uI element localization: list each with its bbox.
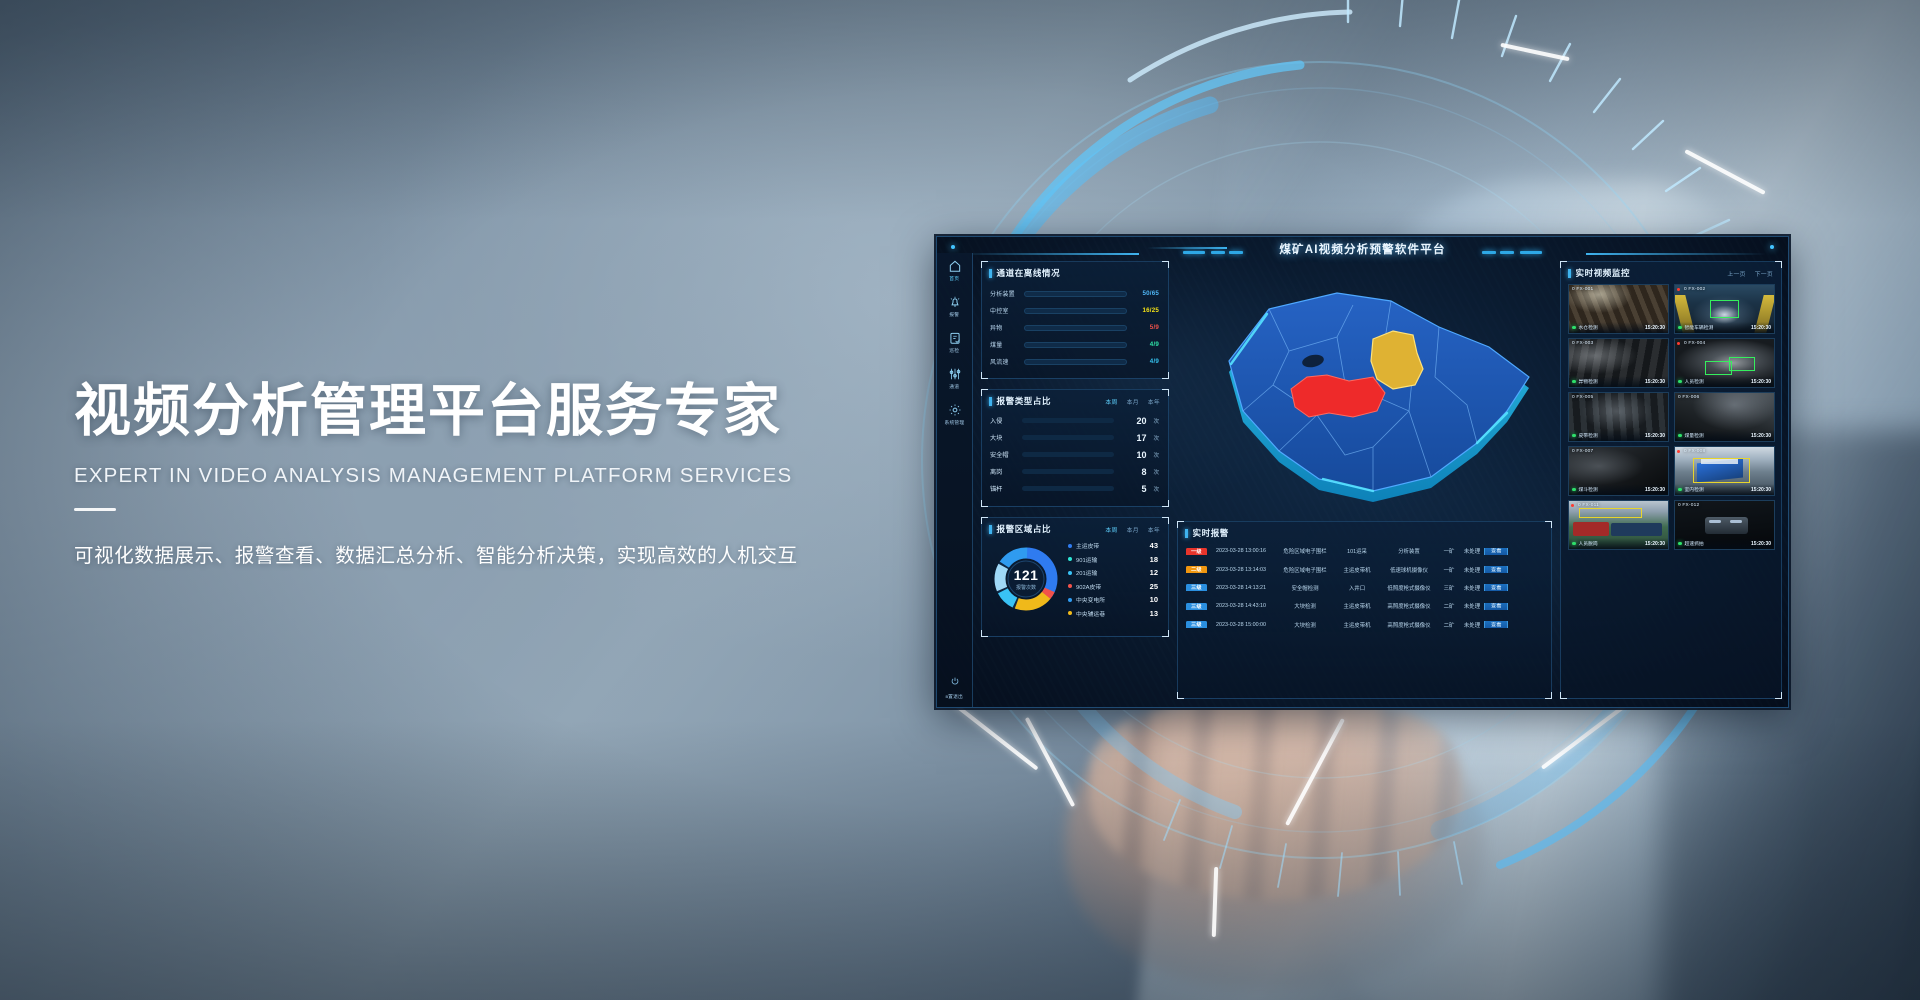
video-footer: 人员脱岗 15:20:30 <box>1569 538 1668 549</box>
legend-value: 12 <box>1150 568 1158 577</box>
video-footer: 水仓检测 15:20:30 <box>1569 322 1668 333</box>
alarm-mine: 二矿 <box>1438 602 1460 610</box>
camera-id: 0 FX-001 <box>1572 287 1593 292</box>
alarm-type-row: 安全帽 10 次 <box>990 446 1159 463</box>
channel-value: 5/9 <box>1133 324 1159 331</box>
camera-id: 0 FX-012 <box>1678 503 1699 508</box>
sidebar-item-home[interactable]: 首页 <box>938 259 972 282</box>
alarm-device: 低照度枪式摄像仪 <box>1380 584 1438 592</box>
legend-label: 201运输 <box>1076 568 1097 577</box>
online-status-led <box>1678 380 1682 384</box>
hero-banner: 视频分析管理平台服务专家 EXPERT IN VIDEO ANALYSIS MA… <box>0 0 1920 1000</box>
dashboard-title: 煤矿AI视频分析预警软件平台 <box>1279 241 1445 257</box>
header-accent-bar <box>1185 529 1188 538</box>
panel-header: 实时报警 <box>1178 522 1551 542</box>
header-dot <box>951 245 955 249</box>
camera-timestamp: 15:20:30 <box>1751 433 1771 439</box>
panel-corner <box>1162 372 1169 379</box>
legend-color-dot <box>1068 598 1072 602</box>
alarm-type-name: 入侵 <box>990 416 1016 425</box>
alarm-type-value: 17 <box>1120 433 1146 443</box>
panel-corner <box>1545 692 1552 699</box>
alarm-device: 分析装置 <box>1380 547 1438 555</box>
alarm-type-value: 20 <box>1120 416 1146 426</box>
alarm-type-progress-track <box>1022 435 1114 440</box>
legend-label: 901运输 <box>1076 555 1097 564</box>
legend-color-dot <box>1068 611 1072 615</box>
panel-corner <box>1545 521 1552 528</box>
header-line-left <box>959 253 1139 255</box>
alarm-type-name: 安全帽 <box>990 450 1016 459</box>
detection-box <box>1579 508 1642 519</box>
camera-timestamp: 15:20:30 <box>1645 487 1665 493</box>
legend-label: 中央变电所 <box>1076 595 1105 604</box>
camera-id: 0 FX-003 <box>1572 341 1593 346</box>
donut-center-label: 121 报警次数 <box>990 543 1062 615</box>
legend-label: 中央辅运巷 <box>1076 609 1105 618</box>
alarm-device: 高照度枪式摄像仪 <box>1380 602 1438 610</box>
camera-timestamp: 15:20:30 <box>1751 379 1771 385</box>
status-badge: 三级 <box>1186 584 1207 591</box>
donut-total-caption: 报警次数 <box>1016 584 1036 591</box>
panel-header: 报警类型占比 本周 本月 本年 <box>982 390 1168 410</box>
panel-corner <box>981 500 988 507</box>
realtime-alarm-title: 实时报警 <box>1193 527 1229 539</box>
panel-corner <box>981 389 988 396</box>
status-badge: 二级 <box>1186 566 1207 573</box>
alarm-area: 主运皮带机 <box>1334 566 1380 574</box>
sidebar-item-system-label: 系统管理 <box>945 419 965 426</box>
legend-color-dot <box>1068 557 1072 561</box>
camera-timestamp: 15:20:30 <box>1645 379 1665 385</box>
online-status-led <box>1572 488 1576 492</box>
view-button[interactable]: 查看 <box>1484 621 1508 628</box>
sliders-icon <box>948 367 962 381</box>
table-row[interactable]: 三级 2023-03-28 14:13:21 安全帽检测 入井口 低照度枪式摄像… <box>1186 579 1543 597</box>
hero-text-block: 视频分析管理平台服务专家 EXPERT IN VIDEO ANALYSIS MA… <box>74 380 954 568</box>
video-footer: 煤斗检测 15:20:30 <box>1569 484 1668 495</box>
sidebar-item-system[interactable]: 系统管理 <box>938 403 972 426</box>
sidebar-item-alarm-label: 报警 <box>950 311 960 318</box>
header-line-right <box>1586 253 1766 255</box>
header-dot <box>1770 245 1774 249</box>
recording-indicator <box>1677 342 1680 345</box>
camera-name: 异物检测 <box>1579 378 1598 385</box>
panel-header: 实时视频监控 上一页 下一页 <box>1561 262 1781 282</box>
alarm-device: 低速球机摄像仪 <box>1380 566 1438 574</box>
alarm-type-list: 入侵 20 次 大块 17 次 安全帽 10 次 <box>982 410 1168 497</box>
header-accent-bar <box>989 397 992 406</box>
alarm-area: 入井口 <box>1334 584 1380 592</box>
header-line-left-2 <box>1147 247 1227 249</box>
panel-corner <box>1162 500 1169 507</box>
alarm-mine: 二矿 <box>1438 621 1460 629</box>
alarm-area: 主运皮带机 <box>1334 621 1380 629</box>
channel-progress-track <box>1024 342 1127 348</box>
panel-corner <box>1162 389 1169 396</box>
detection-box <box>1705 361 1733 375</box>
alarm-type-panel: 报警类型占比 本周 本月 本年 入侵 20 次 大块 17 <box>981 389 1169 507</box>
panel-corner <box>981 517 988 524</box>
video-cell[interactable]: 0 FX-006 煤量检测 15:20:30 <box>1674 392 1775 442</box>
status-badge: 三级 <box>1186 603 1207 610</box>
alarm-status: 未处理 <box>1460 621 1484 629</box>
camera-timestamp: 15:20:30 <box>1645 325 1665 331</box>
alarm-area: 101运采 <box>1334 547 1380 555</box>
legend-value: 13 <box>1150 609 1158 618</box>
video-pagination: 上一页 下一页 <box>1727 269 1773 278</box>
sidebar-item-inspection-label: 巡检 <box>950 347 960 354</box>
legend-label: 主运皮带 <box>1076 541 1099 550</box>
video-footer: 异物检测 15:20:30 <box>1569 376 1668 387</box>
alarm-type-value: 5 <box>1120 484 1146 494</box>
camera-id: 0 FX-007 <box>1572 449 1593 454</box>
tab-this-week[interactable]: 本周 <box>1105 397 1117 406</box>
video-cell[interactable]: 0 FX-001 水仓检测 15:20:30 <box>1568 284 1669 334</box>
camera-timestamp: 15:20:30 <box>1751 541 1771 547</box>
legend-item: 901运输 18 <box>1068 554 1158 565</box>
channel-list: 分析装置 50/65 中控室 16/25 异物 5/9 煤量 4 <box>982 282 1168 370</box>
sidebar-footer-label: в置退出 <box>946 693 964 700</box>
online-status-led <box>1678 326 1682 330</box>
mine-distribution-map[interactable] <box>1177 265 1552 513</box>
table-row[interactable]: 二级 2023-03-28 13:14:03 危险区域电子围栏 主运皮带机 低速… <box>1186 560 1543 578</box>
camera-id: 0 FX-002 <box>1684 287 1705 292</box>
camera-name: 人员检测 <box>1685 378 1704 385</box>
legend-item: 主运皮带 43 <box>1068 540 1158 551</box>
camera-name: 水仓检测 <box>1579 324 1598 331</box>
panel-corner <box>1775 261 1782 268</box>
alarm-type-row: 锚杆 5 次 <box>990 480 1159 497</box>
alarm-type-panel-title: 报警类型占比 <box>997 395 1052 407</box>
sidebar-nav: 首页 报警 <box>937 253 973 707</box>
channel-progress-track <box>1024 291 1127 297</box>
video-footer: 人员检测 15:20:30 <box>1675 376 1774 387</box>
alarm-time: 2023-03-28 15:00:00 <box>1216 622 1276 628</box>
tab-this-week[interactable]: 本周 <box>1105 525 1117 534</box>
alarm-device: 高照度枪式摄像仪 <box>1380 621 1438 629</box>
channel-name: 风流速 <box>990 357 1018 366</box>
alarm-type-value: 8 <box>1120 467 1146 477</box>
alarm-area-tabs: 本周 本月 本年 <box>1105 525 1160 534</box>
alarm-bell-icon <box>948 295 962 309</box>
sidebar-footer[interactable]: в置退出 <box>945 673 963 700</box>
legend-item: 201运输 12 <box>1068 567 1158 578</box>
legend-color-dot <box>1068 571 1072 575</box>
header-dash <box>1183 251 1205 254</box>
alarm-type-row: 大块 17 次 <box>990 429 1159 446</box>
sidebar-item-channel[interactable]: 通道 <box>938 367 972 390</box>
camera-name: 人员脱岗 <box>1579 540 1598 547</box>
alarm-type-name: 大块 <box>990 433 1016 442</box>
panel-corner <box>1162 517 1169 524</box>
alarm-type-progress-track <box>1022 418 1114 423</box>
header-accent-bar <box>989 269 992 278</box>
camera-name: 超速抓拍 <box>1685 540 1704 547</box>
alarm-mine: 一矿 <box>1438 566 1460 574</box>
alarm-type-name: 锚杆 <box>990 484 1016 493</box>
header-dash <box>1229 251 1243 254</box>
panel-corner <box>981 261 988 268</box>
panel-corner <box>1162 630 1169 637</box>
online-status-led <box>1572 434 1576 438</box>
channel-panel-title: 通道在离线情况 <box>997 267 1061 279</box>
tab-this-month[interactable]: 本月 <box>1127 397 1139 406</box>
tab-this-month[interactable]: 本月 <box>1127 525 1139 534</box>
video-cell[interactable]: 0 FX-011 人员脱岗 15:20:30 <box>1568 500 1669 550</box>
channel-value: 16/25 <box>1133 307 1159 314</box>
video-footer: 室内检测 15:20:30 <box>1675 484 1774 495</box>
camera-name: 室内检测 <box>1685 486 1704 493</box>
alarm-type-tabs: 本周 本月 本年 <box>1105 397 1160 406</box>
header-dash <box>1520 251 1542 254</box>
gear-icon <box>948 403 962 417</box>
video-footer: 智能车辆检测 15:20:30 <box>1675 322 1774 333</box>
alarm-type-value: 10 <box>1120 450 1146 460</box>
panel-corner <box>1775 692 1782 699</box>
home-icon <box>948 259 962 273</box>
online-status-led <box>1572 326 1576 330</box>
alarm-mine: 三矿 <box>1438 584 1460 592</box>
header-dash <box>1211 251 1225 254</box>
recording-indicator <box>1571 504 1574 507</box>
alarm-type-row: 离岗 8 次 <box>990 463 1159 480</box>
online-status-led <box>1572 542 1576 546</box>
alarm-area-panel: 报警区域占比 本周 本月 本年 <box>981 517 1169 637</box>
online-status-led <box>1572 380 1576 384</box>
panel-corner <box>1162 261 1169 268</box>
view-button[interactable]: 查看 <box>1484 548 1508 555</box>
recording-indicator <box>1677 450 1680 453</box>
detection-box <box>1693 458 1750 483</box>
alarm-table: 一级 2023-03-28 13:00:16 危险区域电子围栏 101运采 分析… <box>1178 542 1551 634</box>
hero-subtitle: EXPERT IN VIDEO ANALYSIS MANAGEMENT PLAT… <box>74 464 954 488</box>
online-status-led <box>1678 542 1682 546</box>
alarm-type-unit: 次 <box>1153 485 1159 493</box>
donut-total-value: 121 <box>1014 568 1039 582</box>
detection-box <box>1710 300 1740 317</box>
camera-name: 智能车辆检测 <box>1685 324 1714 331</box>
channel-name: 中控室 <box>990 306 1018 315</box>
camera-id: 0 FX-008 <box>1684 449 1705 454</box>
panel-header: 通道在离线情况 <box>982 262 1168 282</box>
next-page-button[interactable]: 下一页 <box>1755 269 1773 278</box>
alarm-type-progress-track <box>1022 469 1114 474</box>
camera-timestamp: 15:20:30 <box>1645 433 1665 439</box>
video-cell[interactable]: 0 FX-008 室内检测 15:20:30 <box>1674 446 1775 496</box>
alarm-type: 大块检测 <box>1276 621 1334 629</box>
camera-name: 皮带检测 <box>1579 432 1598 439</box>
alarm-area-panel-title: 报警区域占比 <box>997 523 1052 535</box>
camera-id: 0 FX-006 <box>1678 395 1699 400</box>
alarm-type-unit: 次 <box>1153 417 1159 425</box>
legend-color-dot <box>1068 544 1072 548</box>
channel-status-panel: 通道在离线情况 分析装置 50/65 中控室 16/25 异物 5/9 <box>981 261 1169 379</box>
donut-legend: 主运皮带 43 901运输 18 201运输 12 <box>1068 540 1162 619</box>
status-badge: 一级 <box>1186 548 1207 555</box>
camera-timestamp: 15:20:30 <box>1751 487 1771 493</box>
alarm-status: 未处理 <box>1460 602 1484 610</box>
alarm-type-unit: 次 <box>1153 451 1159 459</box>
legend-value: 43 <box>1150 541 1158 550</box>
channel-progress-track <box>1024 325 1127 331</box>
camera-id: 0 FX-005 <box>1572 395 1593 400</box>
channel-row: 分析装置 50/65 <box>990 285 1159 302</box>
channel-value: 4/9 <box>1133 358 1159 365</box>
channel-name: 煤量 <box>990 340 1018 349</box>
tab-this-year[interactable]: 本年 <box>1148 397 1160 406</box>
table-row[interactable]: 三级 2023-03-28 15:00:00 大块检测 主运皮带机 高照度枪式摄… <box>1186 616 1543 634</box>
detection-box <box>1729 357 1755 370</box>
alarm-status: 未处理 <box>1460 566 1484 574</box>
channel-progress-track <box>1024 359 1127 365</box>
table-row[interactable]: 三级 2023-03-28 14:43:10 大块检测 主运皮带机 高照度枪式摄… <box>1186 597 1543 615</box>
alarm-type-row: 入侵 20 次 <box>990 412 1159 429</box>
video-grid: 0 FX-001 水仓检测 15:20:30 0 FX-002 <box>1561 282 1781 550</box>
video-cell[interactable]: 0 FX-007 煤斗检测 15:20:30 <box>1568 446 1669 496</box>
header-dash <box>1500 251 1514 254</box>
alarm-area-chart: 121 报警次数 主运皮带 43 901运输 18 <box>982 538 1168 619</box>
legend-value: 25 <box>1150 582 1158 591</box>
alarm-type: 大块检测 <box>1276 602 1334 610</box>
alarm-type: 危险区域电子围栏 <box>1276 547 1334 555</box>
panel-corner <box>1560 261 1567 268</box>
panel-corner <box>981 372 988 379</box>
camera-name: 煤斗检测 <box>1579 486 1598 493</box>
alarm-area: 主运皮带机 <box>1334 602 1380 610</box>
alarm-type-unit: 次 <box>1153 468 1159 476</box>
camera-id: 0 FX-004 <box>1684 341 1705 346</box>
video-footer: 煤量检测 15:20:30 <box>1675 430 1774 441</box>
tab-this-year[interactable]: 本年 <box>1148 525 1160 534</box>
legend-value: 10 <box>1150 595 1158 604</box>
panel-corner <box>1177 692 1184 699</box>
hero-divider <box>74 508 116 511</box>
camera-timestamp: 15:20:30 <box>1751 325 1771 331</box>
alarm-type-name: 离岗 <box>990 467 1016 476</box>
channel-value: 50/65 <box>1133 290 1159 297</box>
sidebar-item-inspection[interactable]: 巡检 <box>938 331 972 354</box>
legend-color-dot <box>1068 584 1072 588</box>
channel-row: 异物 5/9 <box>990 319 1159 336</box>
channel-row: 煤量 4/9 <box>990 336 1159 353</box>
alarm-time: 2023-03-28 13:14:03 <box>1216 567 1276 573</box>
channel-name: 异物 <box>990 323 1018 332</box>
video-panel-title: 实时视频监控 <box>1576 267 1631 279</box>
realtime-alarm-panel: 实时报警 一级 2023-03-28 13:00:16 危险区域电子围栏 101… <box>1177 521 1552 699</box>
video-cell[interactable]: 0 FX-005 皮带检测 15:20:30 <box>1568 392 1669 442</box>
video-cell[interactable]: 0 FX-002 智能车辆检测 15:20:30 <box>1674 284 1775 334</box>
alarm-status: 未处理 <box>1460 584 1484 592</box>
alarm-type-progress-track <box>1022 452 1114 457</box>
alarm-type: 危险区域电子围栏 <box>1276 566 1334 574</box>
video-cell[interactable]: 0 FX-012 超速抓拍 15:20:30 <box>1674 500 1775 550</box>
video-footer: 超速抓拍 15:20:30 <box>1675 538 1774 549</box>
prev-page-button[interactable]: 上一页 <box>1727 269 1745 278</box>
video-monitor-panel: 实时视频监控 上一页 下一页 0 FX-001 水仓检测 15:20:30 <box>1560 261 1782 699</box>
power-icon <box>950 673 960 691</box>
alarm-mine: 一矿 <box>1438 547 1460 555</box>
legend-value: 18 <box>1150 555 1158 564</box>
online-status-led <box>1678 434 1682 438</box>
legend-item: 中央变电所 10 <box>1068 594 1158 605</box>
video-cell[interactable]: 0 FX-003 异物检测 15:20:30 <box>1568 338 1669 388</box>
header-accent-bar <box>989 525 992 534</box>
header-accent-bar <box>1568 269 1571 278</box>
channel-row: 风流速 4/9 <box>990 353 1159 370</box>
camera-timestamp: 15:20:30 <box>1645 541 1665 547</box>
legend-item: 902A皮带 25 <box>1068 581 1158 592</box>
alarm-type-progress-track <box>1022 486 1114 491</box>
channel-progress-track <box>1024 308 1127 314</box>
header-dash <box>1482 251 1496 254</box>
channel-value: 4/9 <box>1133 341 1159 348</box>
legend-label: 902A皮带 <box>1076 582 1101 591</box>
alarm-type: 安全帽检测 <box>1276 584 1334 592</box>
alarm-time: 2023-03-28 14:13:21 <box>1216 585 1276 591</box>
channel-row: 中控室 16/25 <box>990 302 1159 319</box>
online-status-led <box>1678 488 1682 492</box>
sidebar-item-alarm[interactable]: 报警 <box>938 295 972 318</box>
view-button[interactable]: 查看 <box>1484 603 1508 610</box>
dashboard-screen: 煤矿AI视频分析预警软件平台 首页 <box>936 236 1789 708</box>
sidebar-item-home-label: 首页 <box>950 275 960 282</box>
legend-item: 中央辅运巷 13 <box>1068 608 1158 619</box>
video-footer: 皮带检测 15:20:30 <box>1569 430 1668 441</box>
panel-corner <box>981 630 988 637</box>
hero-description: 可视化数据展示、报警查看、数据汇总分析、智能分析决策，实现高效的人机交互 <box>74 539 954 568</box>
alarm-type-unit: 次 <box>1153 434 1159 442</box>
camera-name: 煤量检测 <box>1685 432 1704 439</box>
alarm-time: 2023-03-28 13:00:16 <box>1216 548 1276 554</box>
video-cell[interactable]: 0 FX-004 人员检测 15:20:30 <box>1674 338 1775 388</box>
clipboard-check-icon <box>948 331 962 345</box>
view-button[interactable]: 查看 <box>1484 566 1508 573</box>
alarm-status: 未处理 <box>1460 547 1484 555</box>
status-badge: 三级 <box>1186 621 1207 628</box>
panel-corner <box>1560 692 1567 699</box>
sidebar-item-channel-label: 通道 <box>950 383 960 390</box>
recording-indicator <box>1677 288 1680 291</box>
panel-header: 报警区域占比 本周 本月 本年 <box>982 518 1168 538</box>
donut-chart: 121 报警次数 <box>990 543 1062 615</box>
page-title: 视频分析管理平台服务专家 <box>74 380 954 444</box>
view-button[interactable]: 查看 <box>1484 584 1508 591</box>
channel-name: 分析装置 <box>990 289 1018 298</box>
table-row[interactable]: 一级 2023-03-28 13:00:16 危险区域电子围栏 101运采 分析… <box>1186 542 1543 560</box>
panel-corner <box>1177 521 1184 528</box>
alarm-time: 2023-03-28 14:43:10 <box>1216 603 1276 609</box>
